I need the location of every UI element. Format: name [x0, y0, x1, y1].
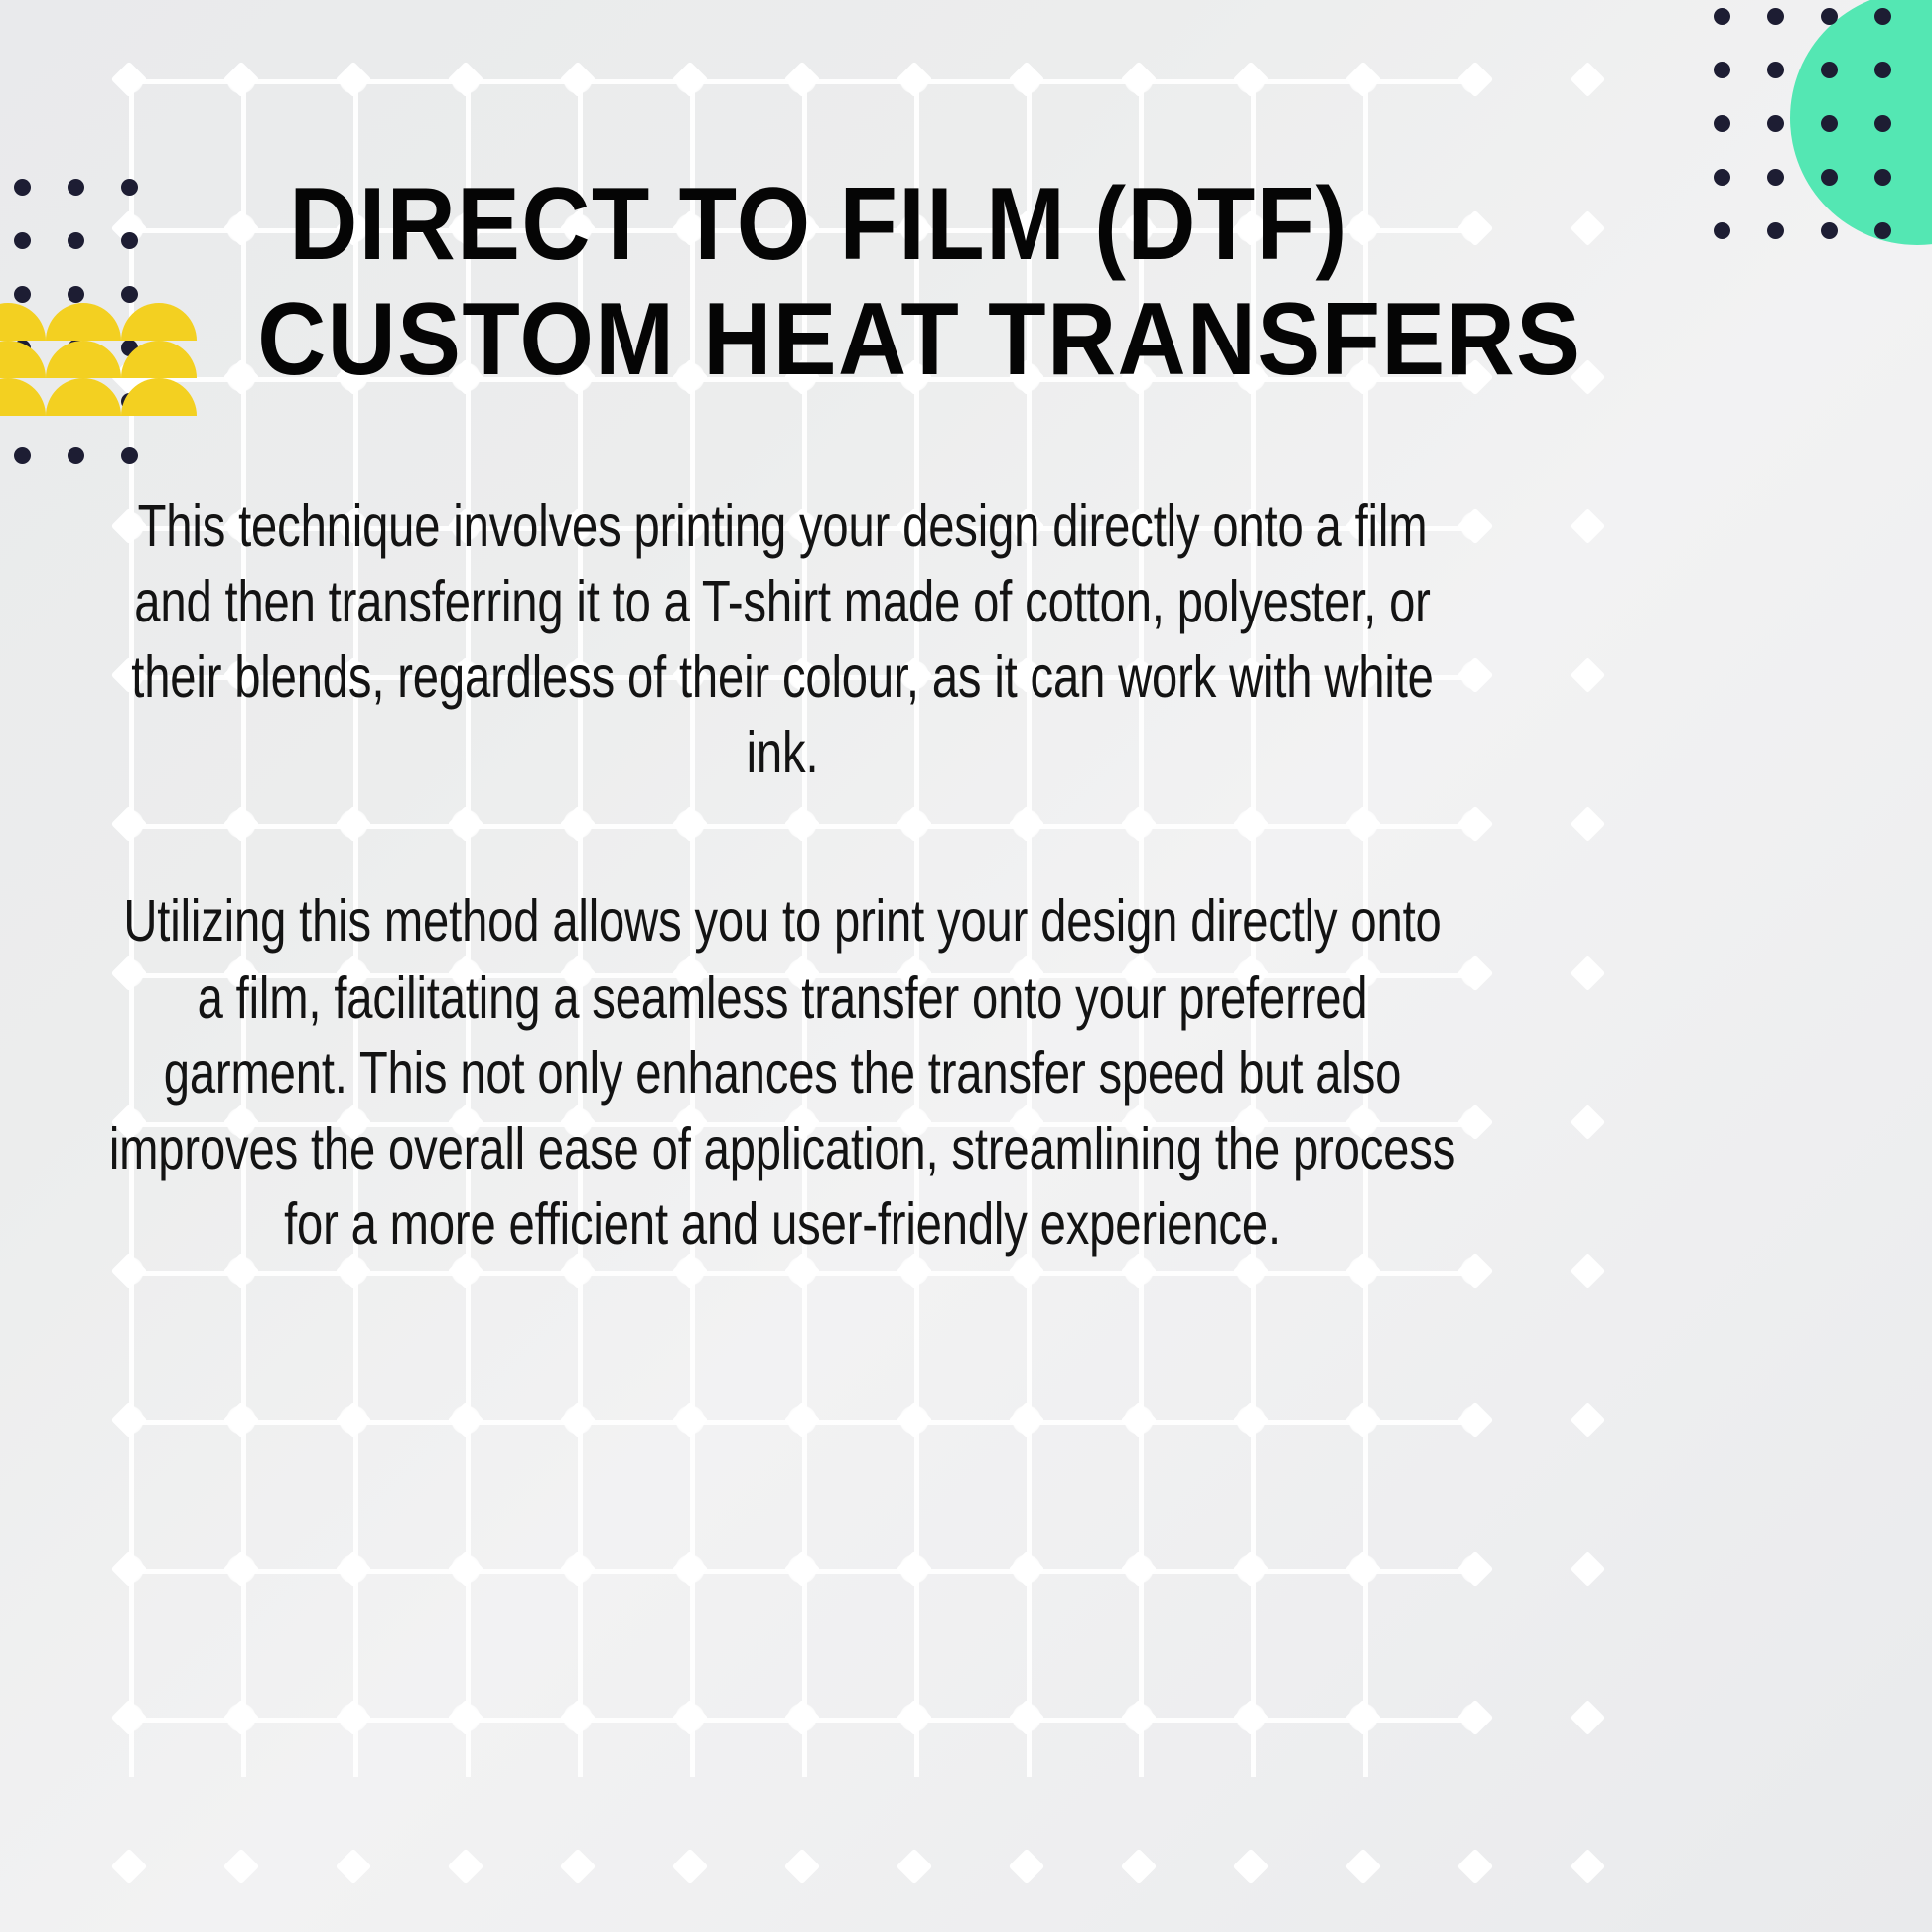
- page-title: DIRECT TO FILM (DTF) CUSTOM HEAT TRANSFE…: [257, 167, 1381, 398]
- body-paragraph-1: This technique involves printing your de…: [107, 488, 1457, 790]
- content-area: DIRECT TO FILM (DTF) CUSTOM HEAT TRANSFE…: [0, 0, 1932, 1932]
- body-paragraph-2: Utilizing this method allows you to prin…: [107, 884, 1457, 1262]
- page-title-line-1: DIRECT TO FILM (DTF): [257, 167, 1381, 282]
- page-title-line-2: CUSTOM HEAT TRANSFERS: [257, 282, 1381, 397]
- poster-canvas: DIRECT TO FILM (DTF) CUSTOM HEAT TRANSFE…: [0, 0, 1932, 1932]
- body-copy: This technique involves printing your de…: [107, 488, 1457, 1262]
- paragraph-spacer: [107, 790, 1457, 884]
